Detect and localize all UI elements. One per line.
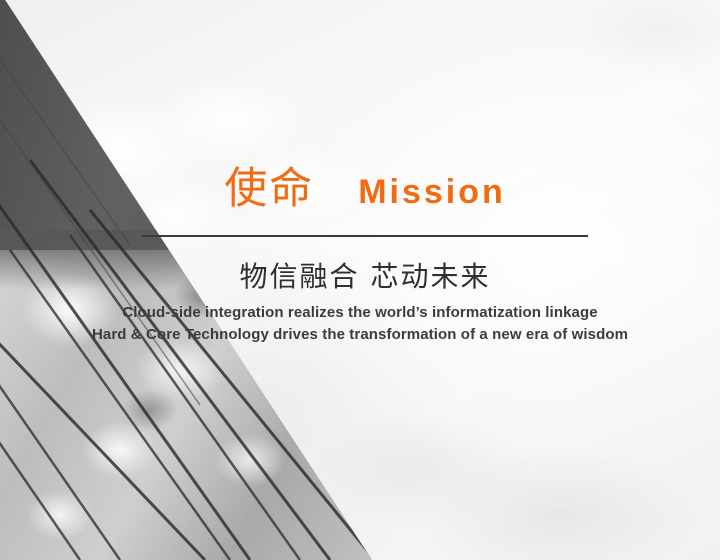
title-divider (142, 235, 588, 237)
tagline-line-1: Cloud-side integration realizes the worl… (60, 302, 660, 324)
banner-content: 使命 Mission 物信融合 芯动未来 Cloud-side integrat… (0, 0, 720, 560)
tagline-block: Cloud-side integration realizes the worl… (60, 302, 660, 346)
page-title-english: Mission (358, 175, 506, 209)
page-title-chinese: 使命 (224, 168, 314, 211)
page-title: 使命 Mission (142, 168, 588, 211)
subtitle-chinese: 物信融合 芯动未来 (142, 258, 588, 296)
tagline-line-2: Hard & Core Technology drives the transf… (60, 324, 660, 346)
mission-banner: 使命 Mission 物信融合 芯动未来 Cloud-side integrat… (0, 0, 720, 560)
